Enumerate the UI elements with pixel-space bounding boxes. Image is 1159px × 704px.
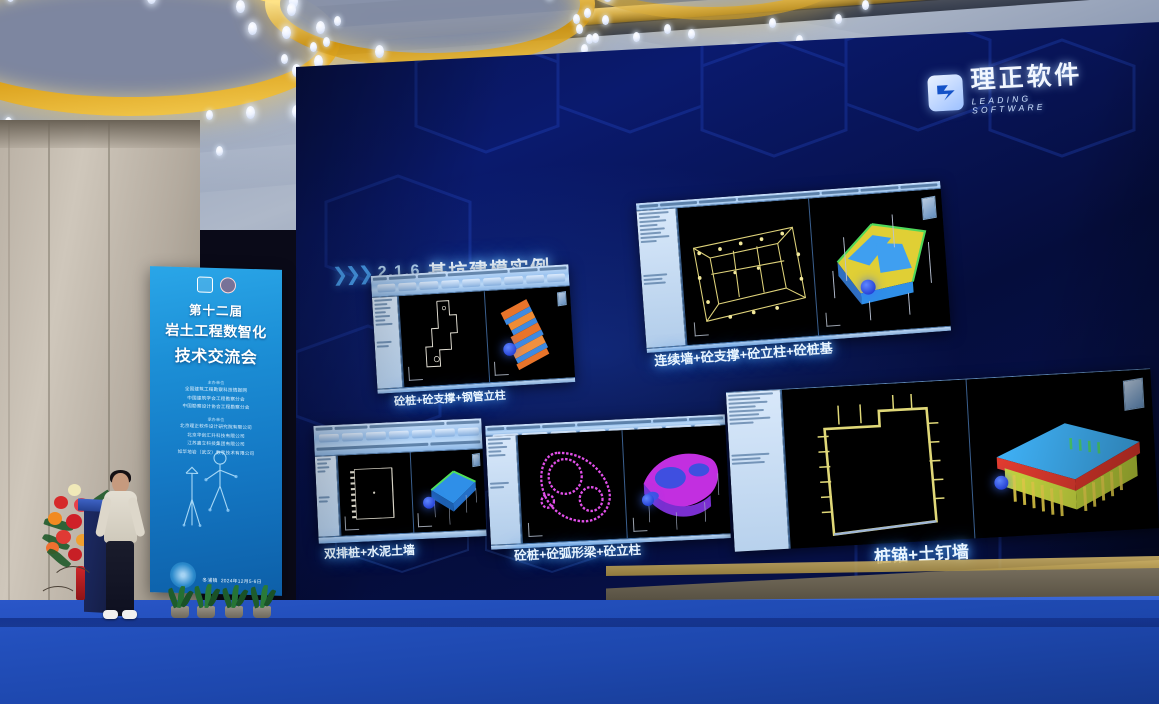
chandelier-bulb	[216, 146, 223, 156]
ucs-icon	[345, 516, 360, 531]
banner-line-1: 第十二届	[150, 298, 282, 321]
viewport-plan-5[interactable]	[781, 380, 976, 552]
ucs-icon	[494, 361, 509, 376]
chandelier-bulb	[576, 24, 583, 34]
viewport-plan-2[interactable]	[676, 199, 818, 345]
logo-glyph	[932, 79, 959, 106]
chandelier-bulb	[248, 22, 257, 35]
presenter-shoe-left	[103, 610, 118, 619]
presenter-head	[112, 473, 129, 493]
chandelier-bulb	[287, 3, 296, 16]
cad-application-1	[371, 264, 576, 394]
chandelier-bulb	[835, 14, 842, 24]
chandelier-bulb	[246, 106, 255, 119]
surveyor-tripod-illustration	[176, 445, 258, 539]
brand-name-cn: 理正软件	[970, 61, 1106, 93]
viewport-3d-5[interactable]	[966, 369, 1159, 551]
chandelier-bulb	[323, 37, 330, 47]
ucs-icon	[693, 321, 708, 336]
ucs-icon	[528, 522, 543, 537]
chandelier-bulb	[769, 18, 776, 28]
view-cube-icon[interactable]	[472, 453, 480, 467]
brand-logo: 理正软件 LEADING SOFTWARE	[927, 55, 1108, 123]
chandelier-bulb	[282, 26, 291, 39]
cad-application-3	[313, 418, 486, 543]
cad-application-5	[726, 368, 1159, 551]
cad-window-panel-4[interactable]	[485, 414, 731, 550]
chandelier-bulb	[206, 110, 213, 120]
event-banner: 第十二届 岩土工程数智化 技术交流会 主办单位 全国建筑工程勘察科技情报网 中国…	[150, 266, 282, 596]
conference-hall-scene: 理正软件 LEADING SOFTWARE ❯❯❯ 2.1.6 基坑建模实例	[0, 0, 1159, 704]
cad-window-panel-5[interactable]	[726, 368, 1159, 551]
chandelier-bulb	[375, 45, 384, 58]
banner-logos	[150, 275, 282, 295]
brand-name-en: LEADING SOFTWARE	[971, 90, 1107, 114]
chandelier-bulb	[334, 16, 341, 26]
chevron-right-icon: ❯❯❯	[332, 262, 372, 287]
cad-application-4	[485, 414, 731, 550]
chandelier-bulb	[281, 54, 288, 64]
view-cube-icon[interactable]	[557, 291, 567, 307]
red-seal-logo-icon	[220, 277, 236, 293]
ucs-icon	[633, 517, 648, 532]
ucs-icon	[418, 513, 433, 528]
leading-s-logo-icon	[927, 74, 964, 112]
cad-window-panel-1[interactable]	[371, 264, 576, 394]
presenter-shoe-right	[122, 610, 137, 619]
viewport-plan-3[interactable]	[337, 452, 414, 535]
viewport-3d-1[interactable]	[484, 287, 575, 382]
banner-line-2: 岩土工程数智化	[150, 319, 282, 343]
cad-application-2	[636, 181, 951, 353]
view-cube-icon[interactable]	[1123, 378, 1145, 411]
presenter-legs	[106, 541, 134, 616]
chandelier-bulb	[633, 32, 640, 42]
viewport-3d-4[interactable]	[621, 425, 731, 538]
ucs-icon	[826, 312, 841, 327]
potted-plants	[168, 566, 280, 618]
viewport-3d-3[interactable]	[410, 449, 487, 532]
led-display-screen: 理正软件 LEADING SOFTWARE ❯❯❯ 2.1.6 基坑建模实例	[296, 22, 1159, 622]
viewport-plan-4[interactable]	[517, 430, 627, 543]
cad-window-panel-2[interactable]	[636, 181, 951, 353]
banner-line-3: 技术交流会	[150, 341, 282, 369]
banner-title: 第十二届 岩土工程数智化 技术交流会	[150, 298, 282, 369]
stage-edge-shadow	[0, 618, 1159, 627]
cits-logo-icon	[197, 276, 213, 292]
presenter	[98, 473, 142, 633]
cursor-highlight-dot	[642, 493, 655, 506]
cursor-highlight-dot	[423, 496, 436, 509]
floor-cable-2	[38, 586, 78, 612]
view-cube-icon[interactable]	[922, 196, 938, 220]
viewport-plan-1[interactable]	[398, 292, 489, 387]
chandelier-bulb	[236, 0, 245, 13]
chandelier-bulb	[310, 42, 317, 52]
cad-window-panel-3[interactable]	[313, 418, 486, 543]
viewport-3d-2[interactable]	[808, 189, 950, 335]
ucs-icon	[408, 366, 423, 381]
chandelier-bulb	[316, 21, 325, 34]
chandelier-bulb	[584, 8, 591, 18]
plan-anchor-frame-drawing	[782, 380, 976, 552]
chandelier-bulb	[602, 15, 609, 25]
